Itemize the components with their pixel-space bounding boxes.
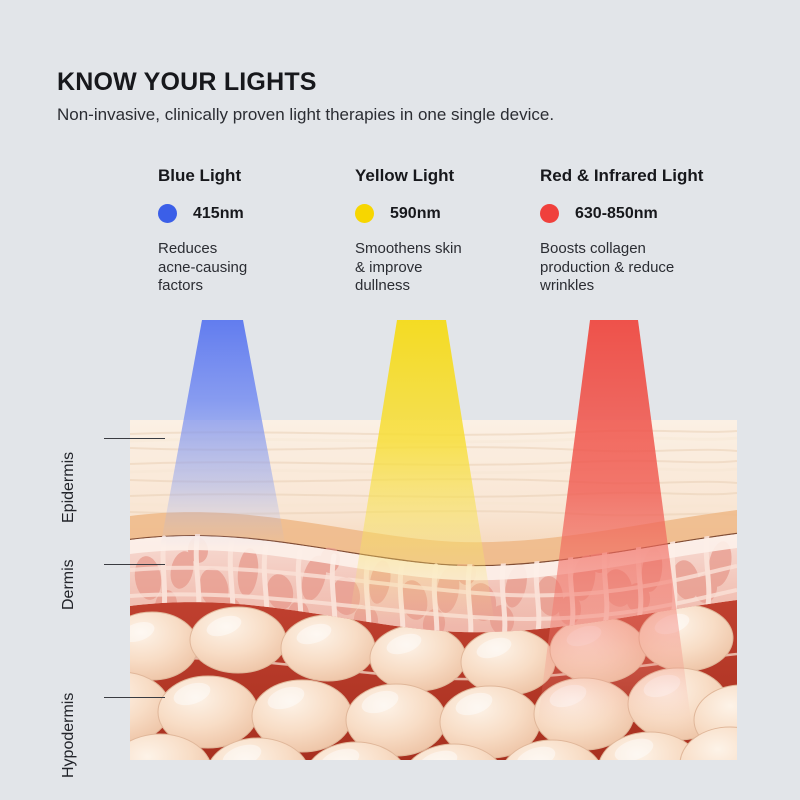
page-title: KNOW YOUR LIGHTS xyxy=(57,68,317,97)
light-name-red: Red & Infrared Light xyxy=(540,166,703,186)
wavelength-row-yellow: 590nm xyxy=(355,204,462,223)
wavelength-blue: 415nm xyxy=(193,205,244,223)
leader-line-hypodermis xyxy=(104,697,165,698)
page-subtitle: Non-invasive, clinically proven light th… xyxy=(57,105,554,125)
light-column-red: Red & Infrared Light 630-850nm Boosts co… xyxy=(540,166,703,296)
light-column-blue: Blue Light 415nm Reduces acne-causing fa… xyxy=(158,166,247,296)
red-dot-icon xyxy=(540,204,559,223)
blue-dot-icon xyxy=(158,204,177,223)
layer-label-dermis: Dermis xyxy=(60,559,78,610)
skin-cross-section-illustration xyxy=(130,420,737,760)
light-column-yellow: Yellow Light 590nm Smoothens skin & impr… xyxy=(355,166,462,296)
light-description-blue: Reduces acne-causing factors xyxy=(158,240,247,296)
light-description-red: Boosts collagen production & reduce wrin… xyxy=(540,240,703,296)
light-name-blue: Blue Light xyxy=(158,166,247,186)
infographic-root: KNOW YOUR LIGHTS Non-invasive, clinicall… xyxy=(0,0,800,800)
light-name-yellow: Yellow Light xyxy=(355,166,462,186)
leader-line-epidermis xyxy=(104,438,165,439)
leader-line-dermis xyxy=(104,564,165,565)
layer-label-hypodermis: Hypodermis xyxy=(60,693,78,778)
layer-label-epidermis: Epidermis xyxy=(60,452,78,523)
wavelength-row-blue: 415nm xyxy=(158,204,247,223)
wavelength-row-red: 630-850nm xyxy=(540,204,703,223)
wavelength-red: 630-850nm xyxy=(575,205,658,223)
light-description-yellow: Smoothens skin & improve dullness xyxy=(355,240,462,296)
wavelength-yellow: 590nm xyxy=(390,205,441,223)
yellow-dot-icon xyxy=(355,204,374,223)
